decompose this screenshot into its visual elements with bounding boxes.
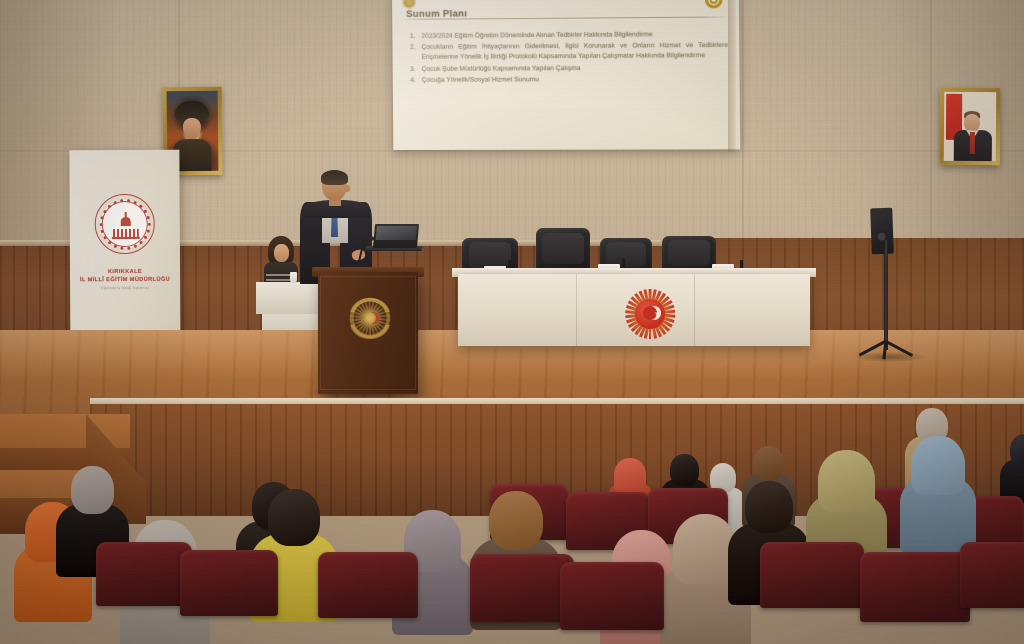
audience-chair xyxy=(860,552,970,622)
ministry-of-education-emblem-icon xyxy=(95,194,155,254)
audience-member-headscarf xyxy=(614,458,646,493)
slide-item-text: Çocuğa Yönelik/Sosyal Hizmet Sunumu xyxy=(422,74,729,86)
emblem-star-dot xyxy=(120,246,123,249)
emblem-star-dot xyxy=(133,244,136,247)
emblem-star-dot xyxy=(139,204,142,207)
president-portrait xyxy=(940,88,1001,165)
slide-agenda-item: 2.Çocukların Eğitim İhtiyaçlarının Gider… xyxy=(405,41,728,64)
slide-item-number: 2. xyxy=(405,43,415,63)
audience-chair xyxy=(96,542,192,606)
emblem-star-dot xyxy=(108,241,111,244)
speaker-stand-pole xyxy=(884,240,888,350)
audience-chair xyxy=(180,550,278,616)
emblem-star-dot xyxy=(146,229,149,232)
emblem-star-dot xyxy=(143,209,146,212)
banner-title: KIRIKKALE İL MİLLÎ EĞİTİM MÜDÜRLÜĞÜ xyxy=(70,268,180,285)
audience-seating xyxy=(0,392,1024,644)
presenter-hair xyxy=(321,170,348,185)
audience-member-headscarf xyxy=(911,436,965,495)
podium-microphone-head xyxy=(368,236,374,241)
slide-item-number: 1. xyxy=(405,32,415,42)
banner-subtitle: Eğitimde İş Birliği Toplantısı xyxy=(81,286,169,290)
water-cup xyxy=(290,272,297,283)
slide-item-text: 2023/2024 Eğitim Öğretim Döneminde Alına… xyxy=(421,30,728,42)
emblem-star-dot xyxy=(127,246,130,249)
emblem-star-dot xyxy=(99,223,102,226)
conference-hall-photo: Sunum Planı 1.2023/2024 Eğitim Öğretim D… xyxy=(0,0,1024,644)
emblem-star-dot xyxy=(139,241,142,244)
emblem-star-dot xyxy=(127,199,130,202)
emblem-star-dot xyxy=(120,199,123,202)
slide-item-number: 3. xyxy=(406,64,416,74)
speaker-stand-shadow xyxy=(854,352,926,362)
presenter-ear xyxy=(345,185,350,192)
portrait-tie xyxy=(970,132,975,154)
slide-agenda-item: 4.Çocuğa Yönelik/Sosyal Hizmet Sunumu xyxy=(406,74,729,86)
ministry-emblem-icon xyxy=(402,0,416,9)
slide-agenda-list: 1.2023/2024 Eğitim Öğretim Döneminde Alı… xyxy=(405,30,728,87)
audience-chair xyxy=(470,554,574,622)
audience-member-head xyxy=(71,466,113,513)
ataturk-face xyxy=(183,118,201,140)
banner-title-line2: İL MİLLÎ EĞİTİM MÜDÜRLÜĞÜ xyxy=(80,277,170,283)
emblem-star-dot xyxy=(107,204,110,207)
loudspeaker xyxy=(870,208,894,255)
audience-member-head xyxy=(753,446,784,480)
slide-item-number: 4. xyxy=(406,76,416,86)
audience-member-headscarf xyxy=(818,450,875,512)
emblem-star-dot xyxy=(147,222,150,225)
emblem-star-dot xyxy=(144,235,147,238)
slide-item-text: Çocuk Şube Müdürlüğü Kapsamında Yapılan … xyxy=(422,63,729,75)
screen-edge-shadow xyxy=(728,0,736,152)
emblem-star-dot xyxy=(113,201,116,204)
emblem-star-dot xyxy=(103,210,106,213)
laptop xyxy=(373,224,419,248)
slide-agenda-item: 1.2023/2024 Eğitim Öğretim Döneminde Alı… xyxy=(405,30,728,43)
projection-screen: Sunum Planı 1.2023/2024 Eğitim Öğretim D… xyxy=(392,0,740,150)
side-desk xyxy=(256,282,326,314)
audience-chair xyxy=(960,542,1024,608)
slide-header-text xyxy=(500,0,632,6)
turkish-parliament-sun-emblem-icon: ★ xyxy=(624,288,676,340)
audience-member-head xyxy=(1010,434,1024,466)
slide-agenda-item: 3.Çocuk Şube Müdürlüğü Kapsamında Yapıla… xyxy=(406,63,729,75)
turkish-crescent-star-emblem-icon xyxy=(348,296,392,340)
audience-chair xyxy=(760,542,864,608)
emblem-star-dot xyxy=(103,236,106,239)
audience-member-head xyxy=(670,454,699,486)
slide-item-text: Çocukların Eğitim İhtiyaçlarının Gideril… xyxy=(421,41,728,63)
emblem-star-dot xyxy=(146,216,149,219)
slide-title: Sunum Planı xyxy=(406,8,467,20)
audience-member xyxy=(900,436,976,553)
presentation-slide: Sunum Planı 1.2023/2024 Eğitim Öğretim D… xyxy=(392,0,740,150)
audience-member-head xyxy=(268,489,319,546)
audience-member-head xyxy=(489,491,542,550)
audience-chair xyxy=(318,552,418,618)
emblem-star-dot xyxy=(100,229,103,232)
emblem-star-dot xyxy=(113,244,116,247)
presenter xyxy=(300,172,374,282)
audience-member-head xyxy=(745,481,793,534)
gold-seal-emblem-icon xyxy=(705,0,723,8)
emblem-star-dot xyxy=(100,216,103,219)
banner-title-line1: KIRIKKALE xyxy=(108,269,142,275)
seated-person-face xyxy=(274,244,289,262)
audience-chair xyxy=(560,562,664,630)
emblem-star-dot xyxy=(133,201,136,204)
